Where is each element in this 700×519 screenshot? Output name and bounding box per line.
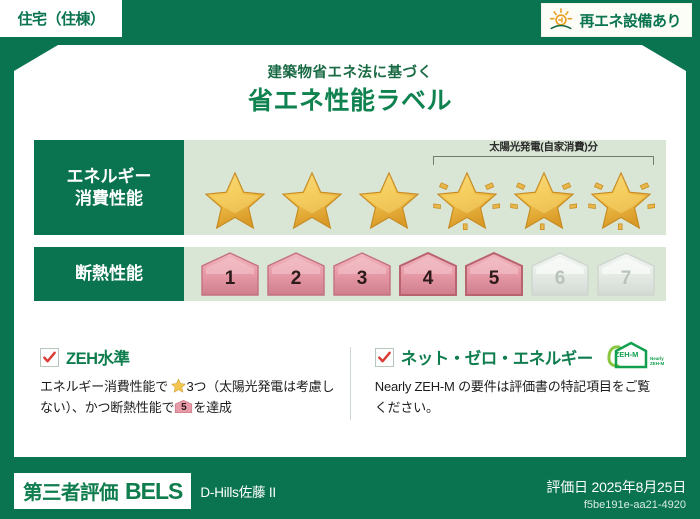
energy-performance-row: エネルギー 消費性能 太陽光発電(自家消費)分 [34,140,666,235]
checkbox-checked [375,348,394,367]
star-5-solar [505,168,582,232]
star-icon [204,170,266,230]
house-type-chip: 住宅（住棟） [0,0,122,37]
building-name: D-Hills佐藤 II [200,481,276,501]
star-1 [196,168,273,232]
label-subtitle: 建築物省エネ法に基づく [14,61,686,82]
criteria-section: ZEH水準 エネルギー消費性能で 3つ（太陽光発電は考慮しない）、かつ断熱性能で… [40,345,660,418]
criteria-description: エネルギー消費性能で 3つ（太陽光発電は考慮しない）、かつ断熱性能で 5 を達成 [40,376,339,418]
grade-number: 5 [174,399,193,414]
criteria-net-zero-energy: ネット・ゼロ・エネルギー ZEH-M Nearly ZEH-M Nearly Z… [361,345,660,418]
zeh-m-logo-sub2: ZEH-M [650,361,664,366]
insulation-label: 断熱性能 [75,263,143,284]
energy-label-line1: エネルギー [67,166,152,187]
checkbox-checked [40,348,59,367]
star-icon [281,170,343,230]
criteria-text-part2: 3つ（太陽光発電 [186,379,283,394]
criteria-text-part4: を達成 [193,400,231,415]
grade-number: 1 [198,268,262,290]
criteria-divider [350,347,351,420]
grade-badge-inline: 5 [174,399,193,414]
solar-bracket-line [433,156,654,165]
footer-left: 第三者評価 BELS D-Hills佐藤 II [14,473,276,509]
insulation-performance-label-tag: 断熱性能 [34,247,184,301]
energy-performance-stars-area: 太陽光発電(自家消費)分 [184,140,666,235]
grade-number: 5 [462,268,526,290]
criteria-heading: ネット・ゼロ・エネルギー ZEH-M Nearly ZEH-M [375,345,660,369]
star-6-solar [583,168,660,232]
insulation-grade-scale: 1 2 3 [198,247,660,301]
house-type-label: 住宅（住棟） [17,8,104,29]
zeh-m-logo-text: ZEH-M [615,350,639,359]
energy-label-line2: 消費性能 [75,188,143,209]
criteria-description: Nearly ZEH-M の要件は評価書の特記項目をご覧ください。 [375,376,660,418]
solar-bracket-label: 太陽光発電(自家消費)分 [431,141,656,154]
bels-jp-label: 第三者評価 [23,476,118,505]
evaluation-date: 評価日 2025年8月25日 [546,477,686,497]
star-icon [358,170,420,230]
star-rating [196,166,660,233]
grade-badge-4: 4 [396,250,460,298]
insulation-grades-area: 1 2 3 [184,247,666,301]
grade-number: 3 [330,268,394,290]
check-icon [42,350,57,365]
check-icon [377,350,392,365]
star-icon [171,378,186,393]
bels-en-label: BELS [125,478,182,505]
grade-number: 2 [264,268,328,290]
grade-badge-7: 7 [594,250,658,298]
criteria-title: ネット・ゼロ・エネルギー [401,345,593,369]
evaluation-id: f5be191e-aa21-4920 [546,499,686,511]
insulation-performance-row: 断熱性能 [34,247,666,301]
star-3 [351,168,428,232]
grade-number: 4 [396,268,460,290]
energy-performance-label-tag: エネルギー 消費性能 [34,140,184,235]
footer-right: 評価日 2025年8月25日 f5be191e-aa21-4920 [546,477,686,511]
grade-badge-2: 2 [264,250,328,298]
grade-badge-1: 1 [198,250,262,298]
grade-number: 7 [594,268,658,290]
star-4-solar [428,168,505,232]
sparkle-icon [583,168,660,232]
solar-bracket: 太陽光発電(自家消費)分 [431,141,656,166]
label-title: 省エネ性能ラベル [14,81,686,117]
sparkle-icon [505,168,582,232]
criteria-text-part1: エネルギー消費性能で [40,379,168,394]
criteria-heading: ZEH水準 [40,345,339,369]
zeh-m-logo: ZEH-M Nearly ZEH-M [602,340,664,372]
renewable-badge-label: 再エネ設備あり [579,10,681,31]
sparkle-icon [428,168,505,232]
grade-number: 6 [528,268,592,290]
star-2 [273,168,350,232]
renewable-equipment-badge: 再エネ設備あり [541,3,692,37]
zeh-m-logo-sub1: Nearly [650,356,664,361]
grade-badge-6: 6 [528,250,592,298]
criteria-title: ZEH水準 [66,345,130,369]
grade-badge-5: 5 [462,250,526,298]
criteria-zeh-standard: ZEH水準 エネルギー消費性能で 3つ（太陽光発電は考慮しない）、かつ断熱性能で… [40,345,339,418]
label-body-panel: 建築物省エネ法に基づく 省エネ性能ラベル エネルギー 消費性能 太陽光発電(自家… [14,45,686,457]
energy-performance-label: 住宅（住棟） 再エネ設備あり 建築物省エネ法に基づく 省エネ性能ラベル [0,0,700,519]
bels-certification-mark: 第三者評価 BELS [14,473,191,509]
grade-badge-3: 3 [330,250,394,298]
sun-icon [548,7,574,33]
